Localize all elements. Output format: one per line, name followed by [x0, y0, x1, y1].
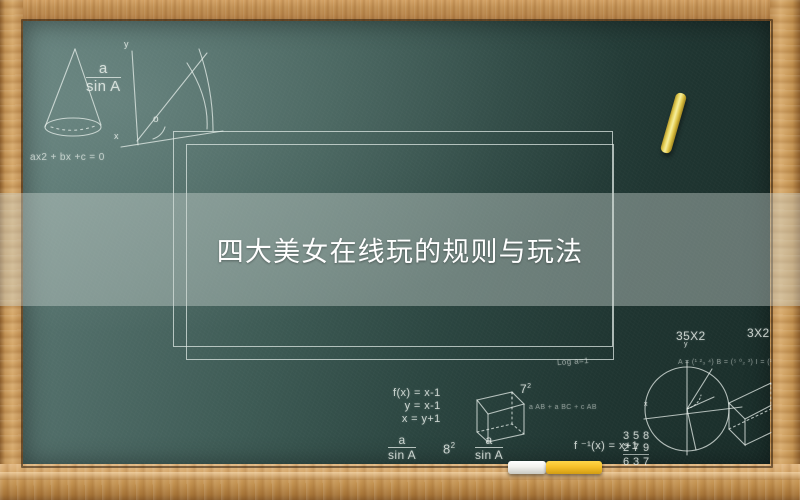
chalk-stick-yellow-tray — [546, 461, 602, 474]
exponent-seven-squared: 72 — [520, 382, 531, 396]
function-line-1: f(x) = x-1 — [393, 387, 441, 400]
function-line-3: x = y+1 — [393, 413, 441, 426]
function-line-2: y = x-1 — [393, 400, 441, 413]
fraction3-numerator: a — [475, 434, 503, 447]
axis-x-label-right: x — [644, 401, 648, 408]
subtraction-minuend: 3 5 8 — [623, 430, 649, 442]
product-3x2: 3X2 — [747, 326, 770, 340]
frame-bottom-tray — [0, 464, 800, 500]
function-lines: f(x) = x-1 y = x-1 x = y+1 — [393, 387, 441, 426]
subtraction-subtrahend: 2 7 9 — [623, 442, 649, 454]
axis-y-label-right: y — [684, 341, 688, 348]
fraction-a-over-sinA-3: a sin A — [475, 434, 503, 462]
set-expression: a AB + a BC + c AB — [529, 404, 597, 411]
matrix-i-brackets: (¹ ⁰₀ ¹) — [767, 359, 772, 366]
fraction2-numerator: a — [388, 434, 416, 447]
cube-drawing-right — [723, 379, 772, 449]
subtraction-result: 6 3 7 — [623, 454, 649, 466]
fraction3-denominator: sin A — [475, 447, 503, 462]
axis-y-label-topleft: y — [124, 39, 129, 49]
fraction2-denominator: sin A — [388, 447, 416, 462]
tray-lip — [0, 472, 800, 480]
exponent-eight-squared: 82 — [443, 441, 456, 456]
chalk-stick-white-tray — [508, 461, 546, 474]
subtraction-column: 3 5 8 2 7 9 6 3 7 — [623, 430, 649, 466]
angle-o-label: o — [153, 114, 159, 125]
chalkboard-scene: a sin A y x o ax2 + bx +c = 0 f(x) = x-1… — [0, 0, 800, 500]
superscript-2a: 2 — [527, 383, 531, 390]
quadratic-equation: ax2 + bx +c = 0 — [30, 152, 105, 163]
fraction-a-over-sinA-2: a sin A — [388, 434, 416, 462]
axis-x-label-topleft: x — [114, 131, 119, 141]
superscript-2b: 2 — [451, 441, 456, 450]
frame-top-rail — [0, 0, 800, 21]
page-title: 四大美女在线玩的规则与玩法 — [0, 193, 800, 306]
